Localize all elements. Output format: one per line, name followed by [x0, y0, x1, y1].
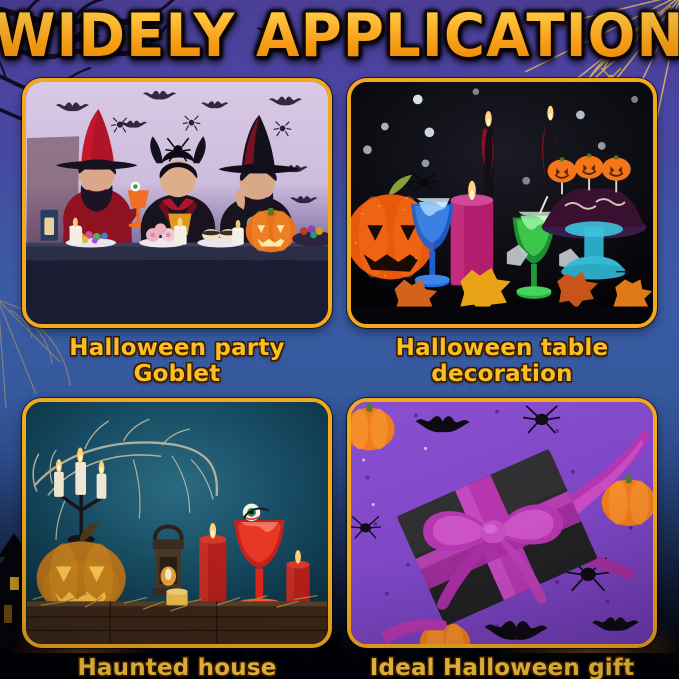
page-title: WIDELY APPLICATION: [0, 7, 679, 66]
application-cell-1: Halloween party Goblet: [22, 78, 332, 396]
grid-row-1: Halloween party Goblet: [0, 78, 679, 396]
scene-halloween-party: [26, 82, 328, 324]
application-cell-3: Haunted house decoration: [22, 398, 332, 679]
photo-panel-2[interactable]: [347, 78, 657, 328]
application-grid: Halloween party Goblet: [0, 78, 679, 679]
photo-panel-1[interactable]: [22, 78, 332, 328]
scene-haunted-house: [26, 402, 328, 644]
grid-row-2: Haunted house decoration: [0, 398, 679, 679]
scene-halloween-gift: [351, 402, 653, 644]
caption-panel-3: Haunted house decoration: [22, 648, 332, 679]
application-cell-4: Ideal Halloween gift: [347, 398, 657, 679]
caption-panel-1: Halloween party Goblet: [22, 328, 332, 396]
title-container: WIDELY APPLICATION: [0, 10, 679, 63]
photo-panel-3[interactable]: [22, 398, 332, 648]
caption-panel-4: Ideal Halloween gift: [347, 648, 657, 679]
poster-canvas: WIDELY APPLICATION: [0, 0, 679, 679]
caption-panel-2: Halloween table decoration: [347, 328, 657, 396]
scene-table-decoration: [351, 82, 653, 324]
application-cell-2: Halloween table decoration: [347, 78, 657, 396]
photo-panel-4[interactable]: [347, 398, 657, 648]
